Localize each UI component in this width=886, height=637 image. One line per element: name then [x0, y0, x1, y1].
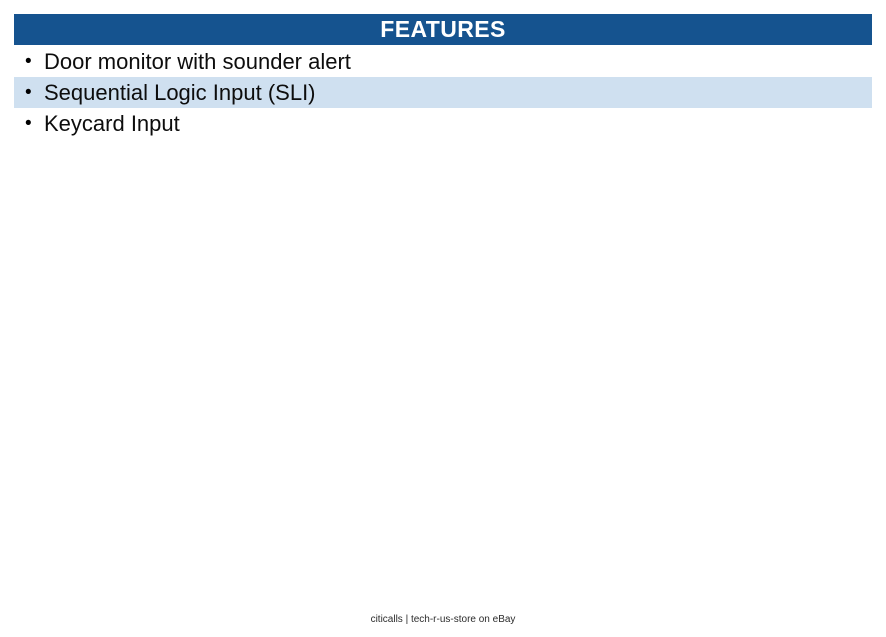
bullet-icon: • [25, 52, 44, 71]
list-item-label: Door monitor with sounder alert [44, 50, 351, 74]
features-list: • Door monitor with sounder alert • Sequ… [14, 46, 872, 139]
page-title: FEATURES [380, 18, 505, 41]
footer: citicalls | tech-r-us-store on eBay [0, 609, 886, 627]
slide-canvas: FEATURES • Door monitor with sounder ale… [0, 0, 886, 637]
list-item-label: Sequential Logic Input (SLI) [44, 81, 316, 105]
footer-attribution: citicalls | tech-r-us-store on eBay [371, 613, 516, 626]
list-item-label: Keycard Input [44, 112, 180, 136]
list-item[interactable]: • Door monitor with sounder alert [14, 46, 872, 77]
list-item[interactable]: • Sequential Logic Input (SLI) [14, 77, 872, 108]
list-item[interactable]: • Keycard Input [14, 108, 872, 139]
bullet-icon: • [25, 83, 44, 102]
features-header-bar: FEATURES [14, 14, 872, 45]
bullet-icon: • [25, 114, 44, 133]
